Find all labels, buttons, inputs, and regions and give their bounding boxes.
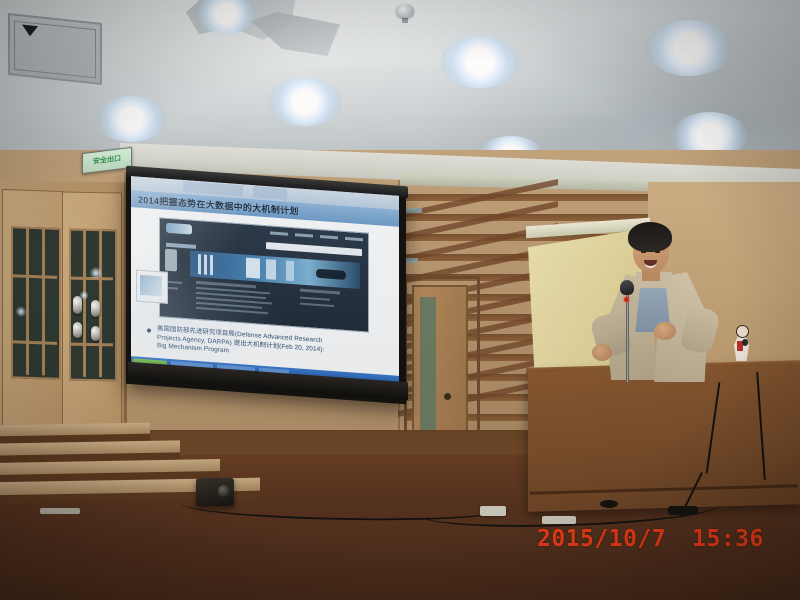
floor-adapter [542,516,576,524]
door-handle[interactable] [73,296,82,314]
cable-connector [668,506,698,515]
door-handle[interactable] [91,300,100,317]
wall-mascot-figure [733,325,750,361]
side-door-knob[interactable] [444,393,451,400]
ceiling-downlight [268,78,342,126]
projection-screen: 2014把握态势在大数据中的大机制计划 [131,176,399,388]
ceiling-downlight [96,96,166,142]
door-glass-pane [11,226,61,380]
presenter-hand-left [592,344,612,361]
door-handle[interactable] [73,322,82,338]
cable-coil [600,500,618,508]
door-handle[interactable] [91,326,100,341]
microphone-stand [626,288,629,382]
presenter-hair [628,222,672,252]
photograph-lecture-hall: 安全出口 2014把握态势在大数据中的大机制计划 [0,0,800,600]
smoke-detector-icon [396,4,414,18]
ceiling-downlight [646,20,732,76]
ceiling-downlight [440,36,520,88]
panel-arrow-icon [22,25,38,38]
screen-glare [131,176,399,388]
floor-power-strip [480,506,506,516]
camera-timestamp: 2015/10/7 15:36 [537,528,764,551]
presenter [592,222,724,382]
timestamp-time: 15:36 [692,528,764,551]
microphone-icon [620,280,634,295]
microphone-led [624,297,629,302]
ceiling-access-panel [8,13,102,85]
floor-bracket [40,508,80,514]
door-leaf-left[interactable] [2,189,64,431]
side-door-glass [420,297,436,447]
timestamp-date: 2015/10/7 [537,528,666,551]
presenter-hand-right [654,322,676,340]
